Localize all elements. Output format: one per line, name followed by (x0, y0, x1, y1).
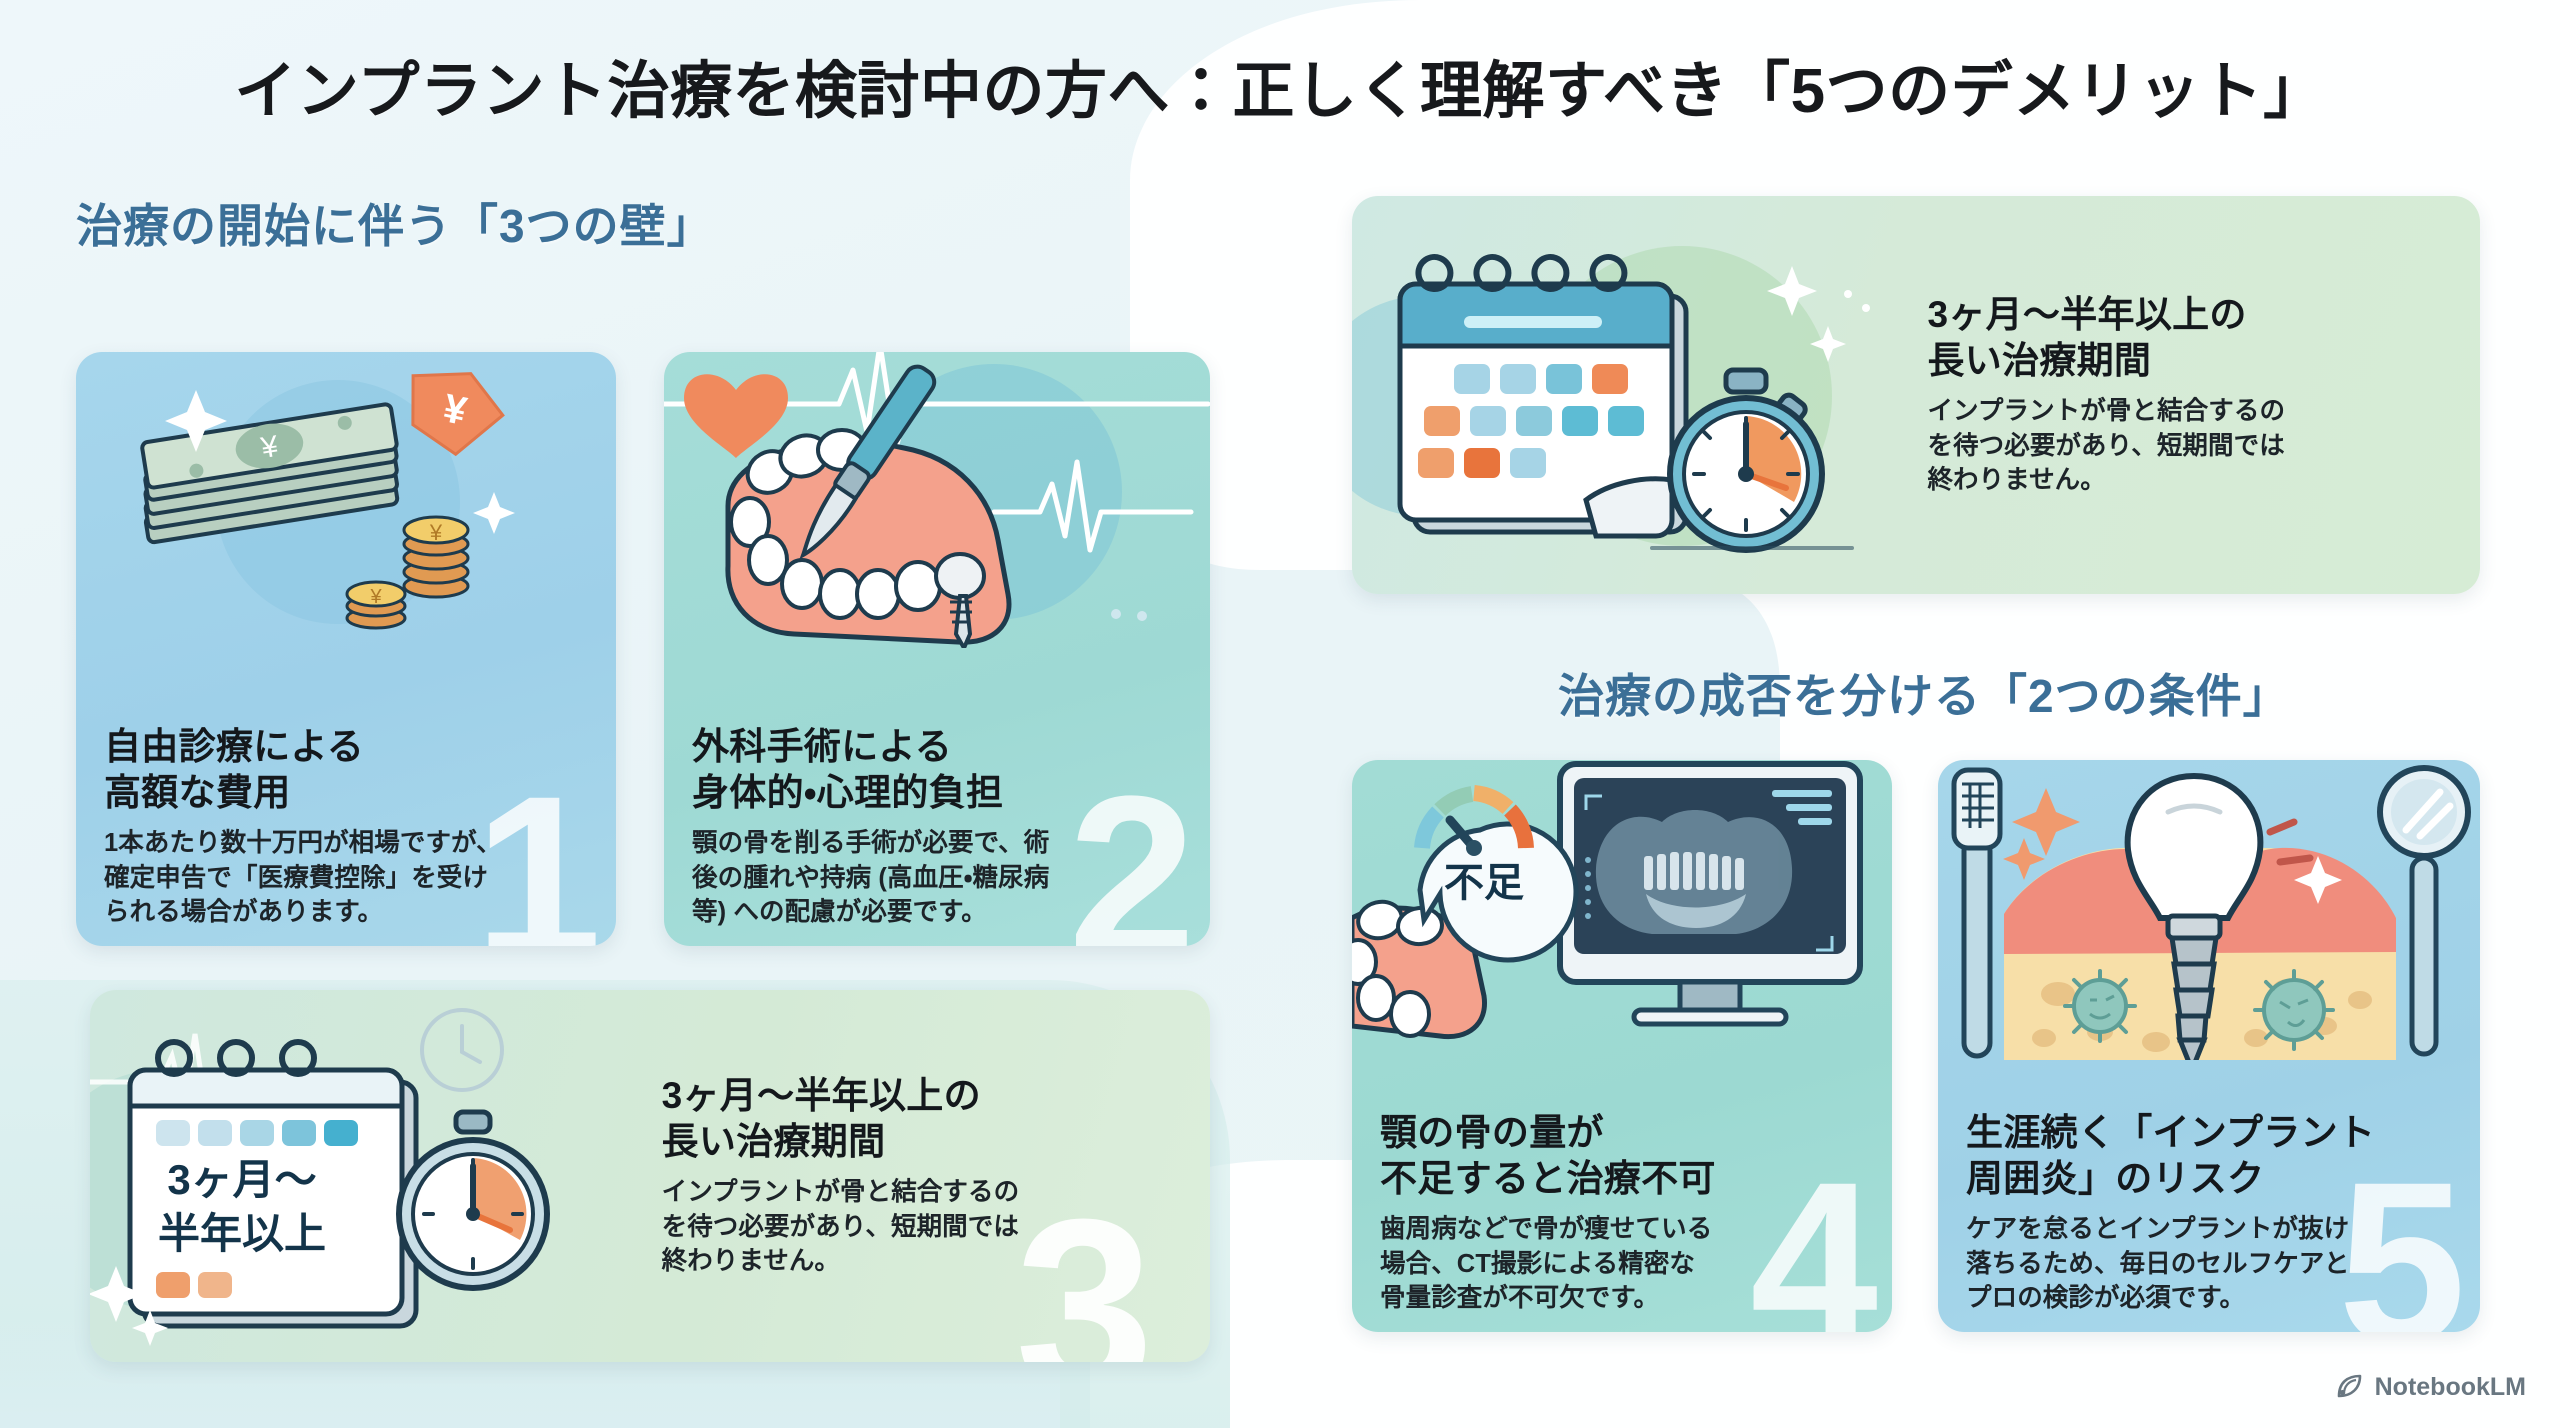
illustration-surgery (664, 352, 1210, 648)
card-bone-volume[interactable]: 不足 顎の骨の量が 不足すると治療不可 歯周病などで骨が痩せている 場合、CT撮… (1352, 760, 1892, 1332)
card-surgery-body: 顎の骨を削る手術が必要で、術 後の腫れや持病 (高血圧・糖尿病 等) への配慮が… (692, 826, 1184, 930)
jaw-scalpel-heartbeat-icon (664, 352, 1210, 648)
card-cost-title: 自由診療による 高額な費用 (104, 724, 590, 816)
card-surgery[interactable]: 外科手術による 身体的・心理的負担 顎の骨を削る手術が必要で、術 後の腫れや持病… (664, 352, 1210, 946)
card-duration-bottom-title: 3ヶ月〜半年以上の 長い治療期間 (662, 1073, 1176, 1165)
card-peri-implantitis[interactable]: 生涯続く「インプラント 周囲炎」のリスク ケアを怠るとインプラントが抜け 落ちる… (1938, 760, 2480, 1332)
card-surgery-title: 外科手術による 身体的・心理的負担 (692, 724, 1184, 816)
card-peri-implantitis-body: ケアを怠るとインプラントが抜け 落ちるため、毎日のセルフケアと プロの検診が必須… (1966, 1212, 2454, 1316)
card-duration-top-text: 3ヶ月〜半年以上の 長い治療期間 インプラントが骨と結合するの を待つ必要があり… (1893, 196, 2480, 594)
card-duration-top[interactable]: 3ヶ月〜半年以上の 長い治療期間 インプラントが骨と結合するの を待つ必要があり… (1352, 196, 2480, 594)
card-surgery-text: 外科手術による 身体的・心理的負担 顎の骨を削る手術が必要で、術 後の腫れや持病… (664, 706, 1210, 946)
illustration-xray: 不足 (1352, 760, 1892, 1060)
card-cost-body: 1本あたり数十万円が相場ですが、 確定申告で「医療費控除」を受け られる場合があ… (104, 826, 590, 930)
illustration-calendar-stopwatch (1352, 196, 1893, 594)
card-cost-text: 自由診療による 高額な費用 1本あたり数十万円が相場ですが、 確定申告で「医療費… (76, 706, 616, 946)
card-duration-bottom-body: インプラントが骨と結合するの を待つ必要があり、短期間では 終わりません。 (662, 1175, 1176, 1279)
card-duration-top-body: インプラントが骨と結合するの を待つ必要があり、短期間では 終わりません。 (1927, 394, 2446, 498)
card-duration-top-title: 3ヶ月〜半年以上の 長い治療期間 (1927, 292, 2446, 384)
card-bone-volume-body: 歯周病などで骨が痩せている 場合、CT撮影による精密な 骨量診査が不可欠です。 (1380, 1212, 1866, 1316)
section-header-right: 治療の成否を分ける「2つの条件」 (1558, 660, 2290, 726)
illustration-calendar-clock: 3ヶ月〜 半年以上 (90, 990, 628, 1362)
page-title: インプラント治療を検討中の方へ：正しく理解すべき「5つのデメリット」 (0, 40, 2560, 130)
illustration-money: ¥ ¥ ¥ (76, 352, 616, 648)
card-bone-volume-text: 顎の骨の量が 不足すると治療不可 歯周病などで骨が痩せている 場合、CT撮影によ… (1352, 1092, 1892, 1332)
illustration-implant-gum (1938, 760, 2480, 1060)
card-peri-implantitis-title: 生涯続く「インプラント 周囲炎」のリスク (1966, 1110, 2454, 1202)
card-peri-implantitis-text: 生涯続く「インプラント 周囲炎」のリスク ケアを怠るとインプラントが抜け 落ちる… (1938, 1092, 2480, 1332)
xray-monitor-jaw-gauge-icon: 不足 (1352, 760, 1892, 1060)
card-bone-volume-title: 顎の骨の量が 不足すると治療不可 (1380, 1110, 1866, 1202)
watermark-label: NotebookLM (2375, 1373, 2526, 1402)
card-cost[interactable]: ¥ ¥ ¥ (76, 352, 616, 946)
gauge-label: 不足 (1444, 861, 1524, 905)
section-header-left: 治療の開始に伴う「3つの壁」 (76, 190, 714, 256)
calendar-stopwatch-icon (1352, 196, 1893, 594)
notebooklm-logo-icon (2335, 1372, 2365, 1402)
calendar-label-line2: 半年以上 (158, 1210, 326, 1257)
money-stack-yen-tag-coins-icon: ¥ ¥ ¥ (76, 352, 616, 648)
svg-text:¥: ¥ (369, 586, 382, 608)
card-duration-bottom-text: 3ヶ月〜半年以上の 長い治療期間 インプラントが骨と結合するの を待つ必要があり… (628, 990, 1210, 1362)
calendar-label-line1: 3ヶ月〜 (167, 1156, 316, 1203)
implant-gum-bacteria-toothbrush-mirror-icon (1938, 760, 2480, 1060)
svg-text:¥: ¥ (429, 520, 443, 545)
card-duration-bottom[interactable]: 3ヶ月〜 半年以上 3ヶ月〜半年以上の 長い治療期間 インプラントが骨と結合する… (90, 990, 1210, 1362)
watermark: NotebookLM (2335, 1372, 2526, 1402)
calendar-clock-stopwatch-icon: 3ヶ月〜 半年以上 (90, 990, 628, 1362)
